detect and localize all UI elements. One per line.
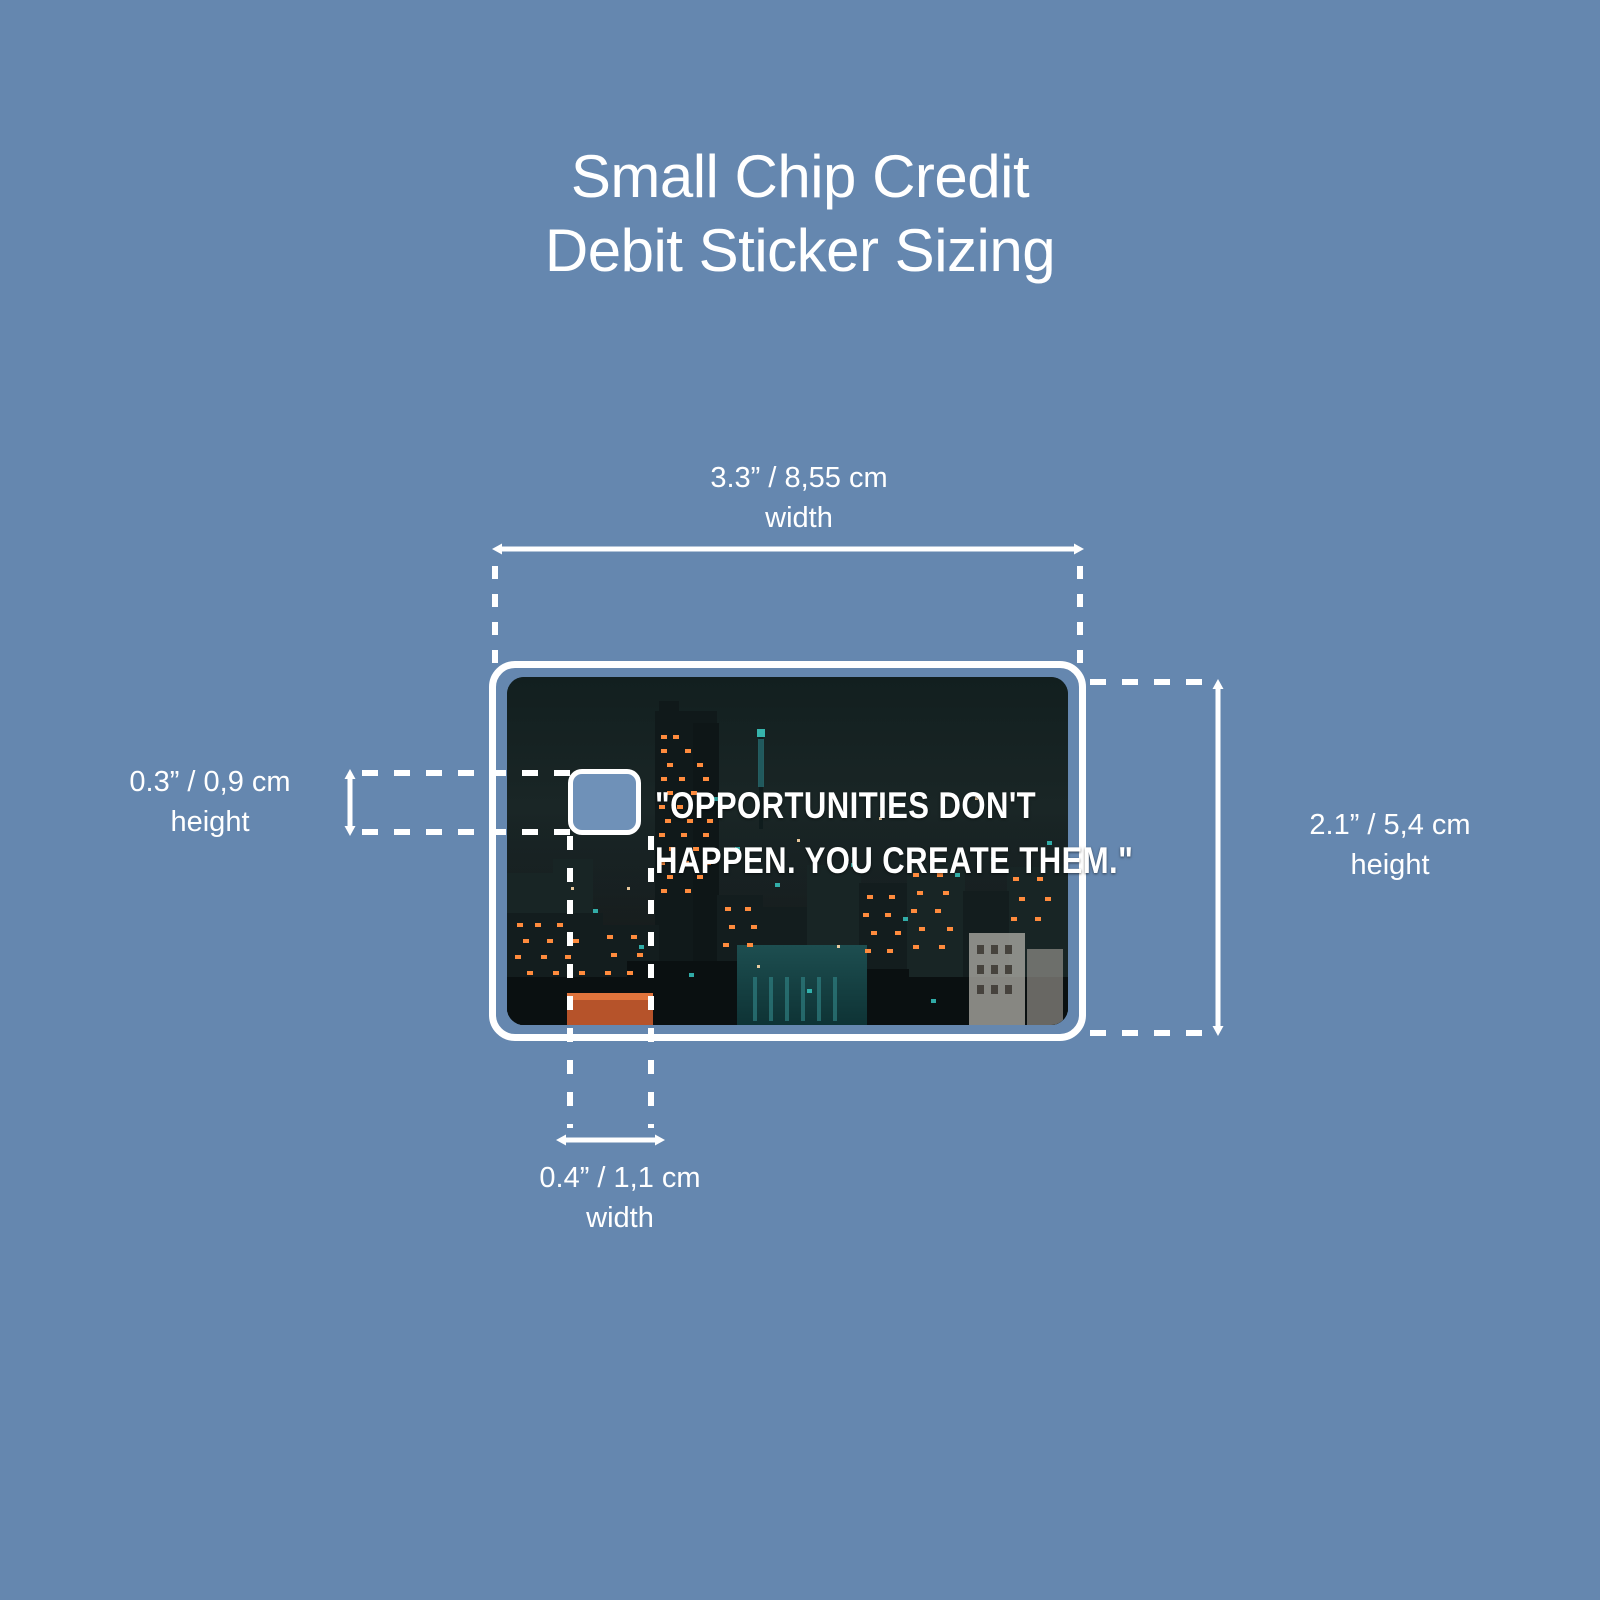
label-chip-height-unit: height bbox=[60, 802, 360, 842]
chip-cutout: chip-cutout bbox=[568, 769, 641, 835]
label-card-width: 3.3” / 8,55 cm width bbox=[589, 458, 1009, 538]
sizing-diagram: Small Chip Credit Debit Sticker Sizing bbox=[0, 0, 1600, 1600]
label-card-height: 2.1” / 5,4 cm height bbox=[1200, 805, 1580, 885]
label-chip-width-value: 0.4” / 1,1 cm bbox=[539, 1162, 700, 1194]
page-title: Small Chip Credit Debit Sticker Sizing bbox=[0, 140, 1600, 288]
label-card-height-unit: height bbox=[1200, 845, 1580, 885]
label-card-width-value: 3.3” / 8,55 cm bbox=[710, 462, 887, 494]
label-card-width-unit: width bbox=[589, 498, 1009, 538]
page-title-line-2: Debit Sticker Sizing bbox=[0, 214, 1600, 288]
card-quote-line-1: "OPPORTUNITIES DON'T bbox=[655, 778, 991, 833]
label-chip-width: 0.4” / 1,1 cm width bbox=[420, 1158, 820, 1238]
dashed-leader-line bbox=[495, 566, 1080, 672]
page-title-line-1: Small Chip Credit bbox=[0, 140, 1600, 214]
label-chip-width-unit: width bbox=[420, 1198, 820, 1238]
card-quote: "OPPORTUNITIES DON'T HAPPEN. YOU CREATE … bbox=[655, 778, 991, 888]
label-chip-height: 0.3” / 0,9 cm height bbox=[60, 762, 360, 842]
label-chip-height-value: 0.3” / 0,9 cm bbox=[129, 766, 290, 798]
label-card-height-value: 2.1” / 5,4 cm bbox=[1309, 809, 1470, 841]
card-quote-line-2: HAPPEN. YOU CREATE THEM." bbox=[655, 833, 991, 888]
